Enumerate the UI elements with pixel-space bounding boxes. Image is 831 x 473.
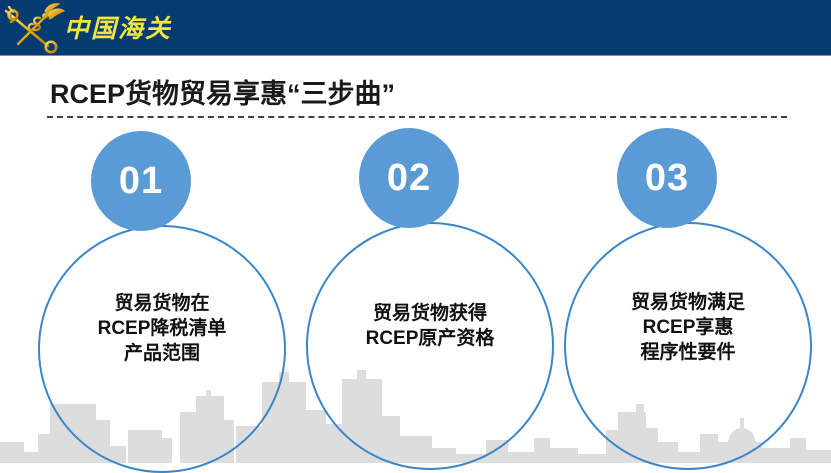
- step-text-line: RCEP降税清单: [42, 316, 282, 341]
- step-text-line: RCEP享惠: [568, 315, 808, 340]
- step-text-line: 程序性要件: [568, 340, 808, 365]
- step-item-3: 03 贸易货物满足 RCEP享惠 程序性要件: [564, 128, 816, 458]
- step-text-line: 产品范围: [42, 341, 282, 366]
- step-text-line: 贸易货物在: [42, 291, 282, 316]
- step-description-1: 贸易货物在 RCEP降税清单 产品范围: [42, 291, 282, 366]
- step-number-badge-3: 03: [617, 128, 717, 228]
- step-description-3: 贸易货物满足 RCEP享惠 程序性要件: [568, 290, 808, 365]
- step-number-badge-1: 01: [91, 131, 191, 231]
- step-text-line: RCEP原产资格: [310, 326, 550, 351]
- step-text-line: 贸易货物满足: [568, 290, 808, 315]
- step-item-1: 01 贸易货物在 RCEP降税清单 产品范围: [38, 131, 290, 461]
- step-number-badge-2: 02: [359, 128, 459, 228]
- steps-container: 01 贸易货物在 RCEP降税清单 产品范围 02 贸易货物获得 RCEP原产资…: [0, 0, 831, 463]
- step-description-2: 贸易货物获得 RCEP原产资格: [310, 301, 550, 351]
- step-text-line: 贸易货物获得: [310, 301, 550, 326]
- step-item-2: 02 贸易货物获得 RCEP原产资格: [306, 128, 558, 458]
